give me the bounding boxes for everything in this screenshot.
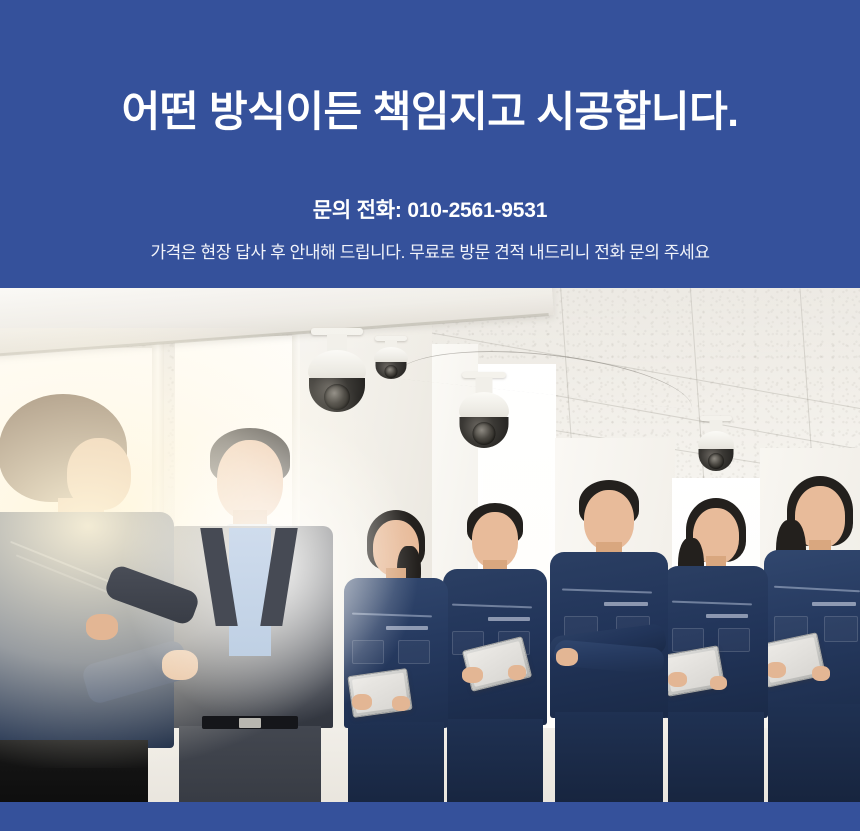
uniform-trousers <box>555 712 663 802</box>
uniform-pocket <box>718 628 750 652</box>
top-banner: 어떤 방식이든 책임지고 시공합니다. 문의 전화: 010-2561-9531… <box>0 0 860 288</box>
head <box>584 490 634 550</box>
handshake-hand <box>162 650 198 680</box>
dome-camera-icon <box>371 336 411 396</box>
hand <box>462 667 483 683</box>
suit-trousers <box>179 726 321 802</box>
uniform-logo <box>386 626 428 630</box>
camera-lens-icon <box>708 453 724 469</box>
camera-lens-icon <box>473 422 496 445</box>
hand <box>812 666 830 681</box>
ptz-dome-camera-icon <box>455 372 513 474</box>
contact-phone-label[interactable]: 문의 전화: 010-2561-9531 <box>313 194 547 224</box>
technician-female-1 <box>340 510 452 802</box>
hand <box>508 665 526 680</box>
uniform-pocket <box>352 640 384 664</box>
uniform-logo <box>488 617 530 621</box>
technician-female-2 <box>660 498 772 802</box>
uniform-pocket <box>824 616 858 642</box>
uniform-trousers <box>768 704 860 802</box>
head <box>217 440 283 520</box>
ptz-dome-camera-icon <box>304 328 370 438</box>
technician-male-1 <box>440 503 550 802</box>
bottom-bar <box>0 802 860 831</box>
work-trousers <box>0 740 148 802</box>
hand <box>710 676 727 690</box>
hand <box>668 672 687 687</box>
hand <box>556 648 578 666</box>
promo-banner-page: 어떤 방식이든 책임지고 시공합니다. 문의 전화: 010-2561-9531… <box>0 0 860 831</box>
ptz-dome-camera-icon <box>695 416 737 490</box>
hero-photo <box>0 288 860 802</box>
uniform-pocket <box>398 640 430 664</box>
camera-lens-icon <box>385 365 398 378</box>
hand <box>392 696 410 711</box>
camera-neck <box>476 377 493 393</box>
uniform-trousers <box>348 722 444 802</box>
handshake-hand <box>86 614 118 640</box>
uniform-logo <box>604 602 648 606</box>
uniform-trousers <box>668 712 764 802</box>
uniform-trousers <box>447 719 543 802</box>
uniform-logo <box>812 602 856 606</box>
banner-subtext: 가격은 현장 답사 후 안내해 드립니다. 무료로 방문 견적 내드리니 전화 … <box>150 238 709 263</box>
belt-buckle <box>239 718 261 728</box>
technician-male-2 <box>548 480 670 802</box>
page-title: 어떤 방식이든 책임지고 시공합니다. <box>122 88 739 136</box>
hand <box>352 694 372 710</box>
uniform-logo <box>706 614 748 618</box>
technician-female-3 <box>760 476 860 802</box>
camera-lens-icon <box>324 384 350 410</box>
